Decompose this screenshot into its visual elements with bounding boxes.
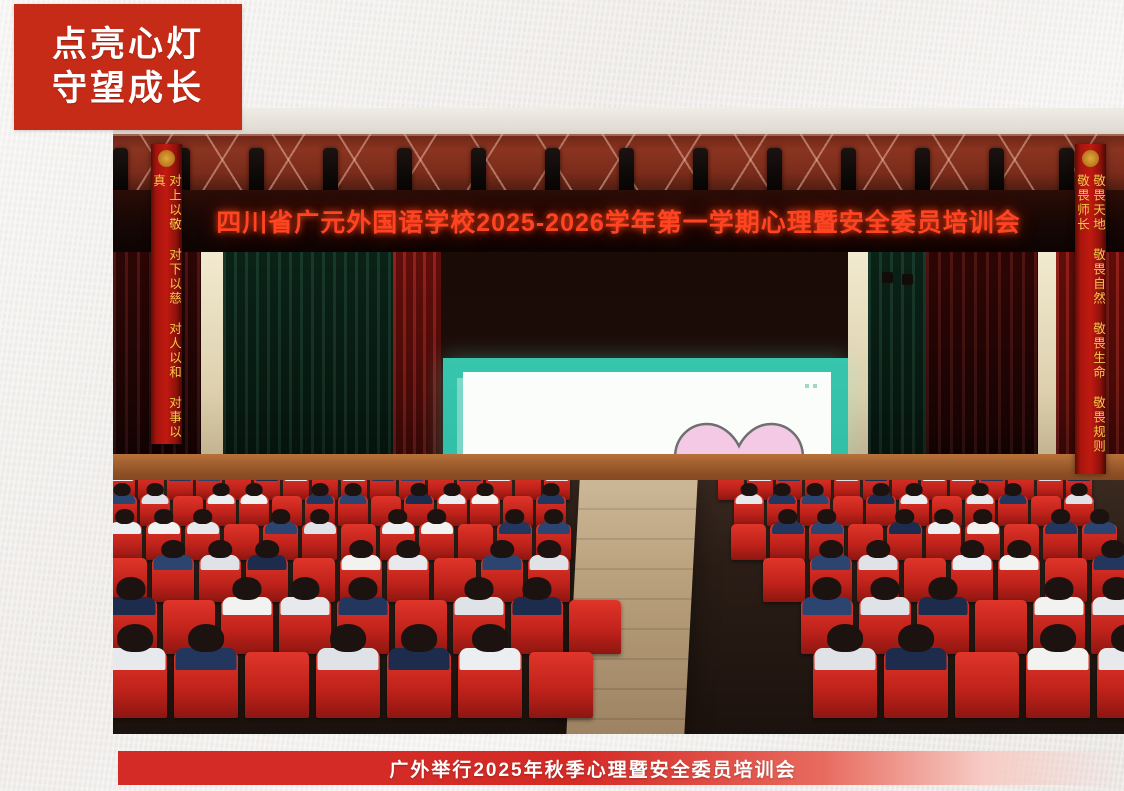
audience-member-head <box>154 509 174 524</box>
audience-member <box>455 577 503 615</box>
audience-member-head <box>1005 483 1022 496</box>
audience-member-shoulders <box>154 555 193 570</box>
audience-member <box>406 483 432 504</box>
slide-dots-icon <box>805 384 817 388</box>
audience-member-head <box>427 509 447 524</box>
audience-member <box>1066 483 1092 504</box>
wall-gap-far-right <box>1038 252 1056 484</box>
audience-member <box>923 480 945 481</box>
audience-member-head <box>774 483 791 496</box>
audience-member <box>981 480 1003 481</box>
audience-member <box>1068 480 1090 481</box>
audience-member-head <box>972 483 989 496</box>
audience-member-shoulders <box>953 555 992 570</box>
audience-member <box>340 483 366 504</box>
audience-member-head <box>827 624 863 652</box>
audience-member-head <box>1040 624 1076 652</box>
stage-area: 心灵使者 携爱前行 广元外国语学校心理委员培训 <box>113 252 1124 484</box>
audience-member <box>812 540 850 571</box>
audience-member <box>208 483 234 504</box>
audience-member-shoulders <box>389 555 428 570</box>
audience-area <box>113 480 1124 734</box>
audience-member <box>811 509 842 534</box>
audience-member <box>307 483 333 504</box>
audience-member-head <box>537 540 561 558</box>
audience-member-shoulders <box>1068 480 1091 481</box>
audience-member <box>1045 509 1076 534</box>
wall-gap-left <box>201 252 223 484</box>
audience-member-shoulders <box>836 480 859 481</box>
audience-member <box>836 480 858 481</box>
audience-member <box>472 483 498 504</box>
audience-member-shoulders <box>372 480 395 481</box>
auditorium-seat <box>569 600 621 654</box>
audience-member-head <box>348 577 377 600</box>
audience-member <box>967 483 993 504</box>
audience-member <box>815 624 875 670</box>
audience-member <box>389 540 427 571</box>
title-badge-line-1: 点亮心灯 <box>52 23 204 67</box>
audience-member-head <box>934 509 954 524</box>
audience-member-head <box>812 577 841 600</box>
audience-member <box>749 480 771 481</box>
auditorium-seat <box>955 652 1019 718</box>
audience-member-head <box>807 483 824 496</box>
audience-member <box>538 483 564 504</box>
audience-member <box>901 483 927 504</box>
audience-member-head <box>741 483 758 496</box>
audience-member-shoulders <box>285 480 308 481</box>
audience-member-shoulders <box>981 480 1004 481</box>
audience-member <box>736 483 762 504</box>
audience-member <box>248 540 286 571</box>
audience-member-head <box>1044 577 1073 600</box>
title-badge: 点亮心灯 守望成长 <box>14 4 242 130</box>
audience-member <box>886 624 946 670</box>
audience-member-head <box>960 540 984 558</box>
wall-gap-right <box>848 252 868 484</box>
audience-member <box>401 480 423 481</box>
stage-banner: 四川省广元外国语学校2025-2026学年第一学期心理暨安全委员培训会 <box>113 190 1124 252</box>
audience-member-head <box>906 483 923 496</box>
audience-member-head <box>444 483 461 496</box>
auditorium-seat <box>529 652 593 718</box>
audience-member <box>421 509 452 534</box>
audience-member-head <box>873 483 890 496</box>
audience-member-head <box>778 509 798 524</box>
seal-icon <box>158 150 175 167</box>
audience-member <box>868 483 894 504</box>
audience-member-head <box>232 577 261 600</box>
audience-member-head <box>116 577 145 600</box>
audience-member-head <box>490 540 514 558</box>
audience-member <box>154 540 192 571</box>
audience-member-head <box>1051 509 1071 524</box>
audience-member-head <box>870 577 899 600</box>
audience-member <box>459 480 481 481</box>
stage-banner-text: 四川省广元外国语学校2025-2026学年第一学期心理暨安全委员培训会 <box>216 203 1021 239</box>
audience-member-head <box>246 483 263 496</box>
audience-member-shoulders <box>865 480 888 481</box>
audience-member-shoulders <box>198 480 221 481</box>
audience-member <box>546 480 568 481</box>
audience-member <box>343 480 365 481</box>
audience-member <box>187 509 218 534</box>
curtain-green-left <box>223 252 393 484</box>
audience-member-shoulders <box>812 555 851 570</box>
audience-member-shoulders <box>113 480 134 481</box>
title-badge-line-2: 守望成长 <box>52 67 204 111</box>
audience-member-head <box>310 509 330 524</box>
audience-member-head <box>345 483 362 496</box>
audience-member-shoulders <box>201 555 240 570</box>
audience-member-head <box>472 624 508 652</box>
audience-member <box>499 509 530 534</box>
audience-member <box>342 540 380 571</box>
audience-member <box>772 509 803 534</box>
audience-member <box>483 540 521 571</box>
audience-member-head <box>928 577 957 600</box>
audience-member-head <box>866 540 890 558</box>
audience-member <box>265 509 296 534</box>
audience-member-head <box>312 483 329 496</box>
audience-member <box>148 509 179 534</box>
audience-member-shoulders <box>483 555 522 570</box>
audience-member-head <box>464 577 493 600</box>
audience-member <box>861 577 909 615</box>
audience-member-head <box>895 509 915 524</box>
auditorium-seat <box>975 600 1027 654</box>
couplet-left-text: 对上以敬 对下以慈 对人以和 对事以真 <box>151 174 181 440</box>
audience-member <box>281 577 329 615</box>
audience-member-shoulders <box>342 555 381 570</box>
audience-member-shoulders <box>859 555 898 570</box>
audience-member-head <box>117 624 153 652</box>
curtain-right-dark <box>926 252 1038 484</box>
audience-member-head <box>819 540 843 558</box>
audience-member <box>198 480 220 481</box>
audience-member-head <box>543 483 560 496</box>
audience-member <box>928 509 959 534</box>
audience-member <box>113 509 140 534</box>
audience-member-head <box>255 540 279 558</box>
audience-member <box>1035 577 1083 615</box>
audience-member <box>113 624 165 670</box>
audience-member-head <box>477 483 494 496</box>
audience-member-head <box>349 540 373 558</box>
audience-member <box>382 509 413 534</box>
audience-member <box>1039 480 1061 481</box>
audience-member-head <box>396 540 420 558</box>
audience-member <box>919 577 967 615</box>
audience-member <box>769 483 795 504</box>
audience-member-shoulders <box>1000 555 1039 570</box>
auditorium-seat <box>763 558 805 602</box>
audience-member-head <box>973 509 993 524</box>
audience-member-shoulders <box>778 480 801 481</box>
audience-member <box>304 509 335 534</box>
audience-member <box>859 540 897 571</box>
couplet-banner-left: 对上以敬 对下以慈 对人以和 对事以真 <box>151 144 182 444</box>
audience-member <box>460 624 520 670</box>
curtain-red-left <box>393 252 441 484</box>
audience-member <box>113 577 155 615</box>
audience-member-head <box>411 483 428 496</box>
event-photo: 四川省广元外国语学校2025-2026学年第一学期心理暨安全委员培训会 心灵使者… <box>113 108 1124 734</box>
audience-member-head <box>1007 540 1031 558</box>
audience-member <box>1094 540 1124 571</box>
audience-member-head <box>1090 509 1110 524</box>
audience-member-shoulders <box>546 480 569 481</box>
couplet-banner-right: 敬畏天地 敬畏自然 敬畏生命 敬畏规则 敬畏师长 <box>1075 144 1106 474</box>
audience-member <box>201 540 239 571</box>
audience-member <box>223 577 271 615</box>
audience-member <box>113 483 135 504</box>
audience-member-head <box>522 577 551 600</box>
audience-member-shoulders <box>923 480 946 481</box>
spotlight-icon <box>902 274 913 285</box>
lighting-truss <box>113 134 1124 198</box>
audience-member-head <box>898 624 934 652</box>
audience-member-shoulders <box>488 480 511 481</box>
audience-member-head <box>1071 483 1088 496</box>
audience-member <box>803 577 851 615</box>
audience-member <box>952 480 974 481</box>
audience-member-head <box>330 624 366 652</box>
couplet-right-text: 敬畏天地 敬畏自然 敬畏生命 敬畏规则 敬畏师长 <box>1075 174 1105 454</box>
audience-member-head <box>193 509 213 524</box>
audience-member <box>802 483 828 504</box>
audience-member-head <box>114 483 131 496</box>
audience-member-head <box>271 509 291 524</box>
audience-member-shoulders <box>169 480 192 481</box>
audience-member-shoulders <box>749 480 772 481</box>
audience-member <box>285 480 307 481</box>
audience-member <box>1000 540 1038 571</box>
audience-member-head <box>401 624 437 652</box>
audience-member-head <box>1101 540 1124 558</box>
audience-member-shoulders <box>401 480 424 481</box>
audience-member <box>488 480 510 481</box>
audience-member <box>967 509 998 534</box>
caption-bar: 广外举行2025年秋季心理暨安全委员培训会 <box>118 751 1124 785</box>
audience-member <box>889 509 920 534</box>
audience-member-head <box>115 509 135 524</box>
audience-member-shoulders <box>952 480 975 481</box>
audience-member-head <box>213 483 230 496</box>
audience-member <box>778 480 800 481</box>
audience-member <box>1028 624 1088 670</box>
audience-member <box>513 577 561 615</box>
audience-member-head <box>388 509 408 524</box>
audience-member-head <box>1102 577 1124 600</box>
seal-icon <box>1082 150 1099 167</box>
audience-member-shoulders <box>1039 480 1062 481</box>
audience-member <box>339 577 387 615</box>
caption-text: 广外举行2025年秋季心理暨安全委员培训会 <box>389 755 796 782</box>
audience-member-shoulders <box>530 555 569 570</box>
audience-member <box>372 480 394 481</box>
audience-member <box>256 480 278 481</box>
audience-member <box>1084 509 1115 534</box>
audience-member <box>1093 577 1124 615</box>
audience-member-shoulders <box>1094 555 1124 570</box>
curtain-green-right <box>868 252 926 484</box>
audience-member <box>530 540 568 571</box>
spotlight-icon <box>882 272 893 283</box>
audience-member-head <box>161 540 185 558</box>
audience-member <box>176 624 236 670</box>
audience-member <box>389 624 449 670</box>
audience-member-shoulders <box>248 555 287 570</box>
audience-member <box>169 480 191 481</box>
audience-member <box>953 540 991 571</box>
auditorium-seat <box>245 652 309 718</box>
audience-member <box>113 480 133 481</box>
audience-member <box>865 480 887 481</box>
audience-member-head <box>817 509 837 524</box>
audience-member-shoulders <box>343 480 366 481</box>
audience-member-head <box>147 483 164 496</box>
audience-member <box>142 483 168 504</box>
audience-member-head <box>505 509 525 524</box>
audience-member <box>1000 483 1026 504</box>
audience-member <box>241 483 267 504</box>
audience-member-head <box>208 540 232 558</box>
audience-member <box>538 509 569 534</box>
auditorium-seat <box>731 524 766 560</box>
audience-member-shoulders <box>256 480 279 481</box>
audience-member <box>439 483 465 504</box>
audience-member-head <box>544 509 564 524</box>
audience-member-shoulders <box>459 480 482 481</box>
audience-member-head <box>290 577 319 600</box>
audience-member <box>318 624 378 670</box>
audience-member-head <box>188 624 224 652</box>
